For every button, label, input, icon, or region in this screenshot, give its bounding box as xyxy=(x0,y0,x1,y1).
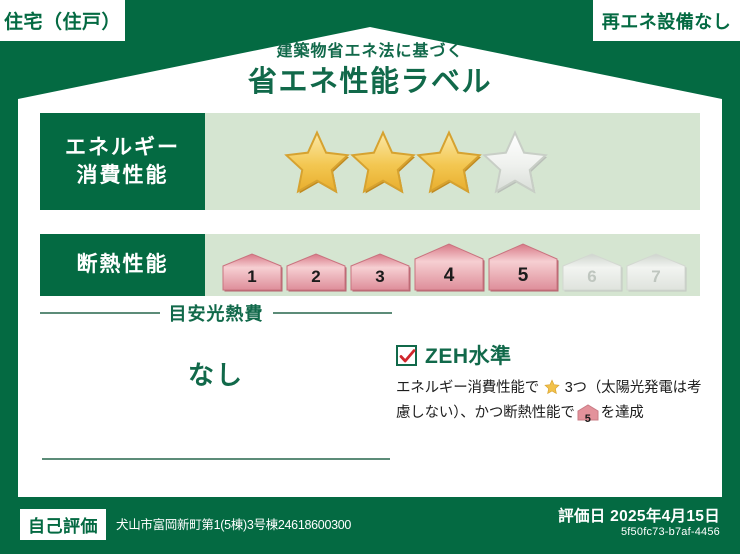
footer-bar: 自己評価 犬山市富岡新町第1(5棟)3号棟24618600300 評価日 202… xyxy=(0,497,740,554)
utility-cost-underline xyxy=(42,458,390,460)
zeh-title: ZEH水準 xyxy=(425,340,512,370)
star-icon-filled xyxy=(415,128,483,196)
insulation-grade-value: 4 xyxy=(413,265,485,287)
badge-building-type: 住宅（住戸） xyxy=(0,0,125,41)
self-evaluation-badge: 自己評価 xyxy=(20,509,106,540)
label-energy-line2: 消費性能 xyxy=(77,162,169,189)
insulation-grade-value: 7 xyxy=(625,267,687,287)
label-energy-performance: エネルギー 消費性能 xyxy=(40,113,205,210)
title-subtitle: 建築物省エネ法に基づく xyxy=(0,42,740,61)
utility-cost-title: 目安光熱費 xyxy=(169,300,264,326)
zeh-description: エネルギー消費性能で 3つ（太陽光発電は考慮しない）、かつ断熱性能で 5 を達成 xyxy=(396,377,708,429)
insulation-grade-3: 3 xyxy=(349,252,411,292)
row-insulation-performance: 断熱性能 1234567 xyxy=(40,234,700,296)
evaluation-date: 評価日 2025年4月15日 xyxy=(558,504,720,526)
star-icon-empty xyxy=(481,128,549,196)
insulation-grade-panel: 1234567 xyxy=(205,234,700,296)
star-icon-filled xyxy=(349,128,417,196)
zeh-desc-part3: を達成 xyxy=(601,405,644,421)
insulation-grade-value: 6 xyxy=(561,267,623,287)
checkbox-icon[interactable] xyxy=(396,345,417,366)
inline-grade-value: 5 xyxy=(577,411,599,428)
insulation-grade-value: 2 xyxy=(285,267,347,287)
insulation-grade-strip: 1234567 xyxy=(221,234,689,296)
inline-grade-badge: 5 xyxy=(577,404,599,428)
row-energy-performance: エネルギー 消費性能 xyxy=(40,113,700,210)
zeh-block: ZEH水準 エネルギー消費性能で 3つ（太陽光発電は考慮しない）、かつ断熱性能で… xyxy=(396,340,708,429)
property-address: 犬山市富岡新町第1(5棟)3号棟24618600300 xyxy=(116,514,351,533)
insulation-grade-value: 3 xyxy=(349,267,411,287)
insulation-grade-value: 5 xyxy=(487,265,559,287)
heading-rule-right xyxy=(273,312,393,314)
zeh-desc-part1: エネルギー消費性能で xyxy=(396,380,539,396)
label-insulation-performance: 断熱性能 xyxy=(40,234,205,296)
title-block: 建築物省エネ法に基づく 省エネ性能ラベル xyxy=(0,42,740,100)
zeh-heading: ZEH水準 xyxy=(396,340,708,370)
insulation-grade-2: 2 xyxy=(285,252,347,292)
star-icon-inline xyxy=(540,383,564,399)
label-insulation-text: 断熱性能 xyxy=(77,251,169,278)
page-title: 省エネ性能ラベル xyxy=(0,64,740,100)
insulation-grade-7: 7 xyxy=(625,252,687,292)
utility-cost-heading: 目安光熱費 xyxy=(40,300,392,326)
insulation-grade-value: 1 xyxy=(221,267,283,287)
insulation-grade-4: 4 xyxy=(413,242,485,292)
star-rating xyxy=(205,113,700,210)
badge-renewable-energy: 再エネ設備なし xyxy=(593,0,740,41)
energy-label-card: 住宅（住戸） 再エネ設備なし 建築物省エネ法に基づく 省エネ性能ラベル エネルギ… xyxy=(0,0,740,554)
insulation-grade-6: 6 xyxy=(561,252,623,292)
evaluation-uuid: 5f50fc73-b7af-4456 xyxy=(621,526,720,538)
utility-cost-value: なし xyxy=(40,355,392,392)
heading-rule-left xyxy=(40,312,160,314)
insulation-grade-1: 1 xyxy=(221,252,283,292)
label-energy-line1: エネルギー xyxy=(65,134,180,161)
star-icon-filled xyxy=(283,128,351,196)
insulation-grade-5: 5 xyxy=(487,242,559,292)
